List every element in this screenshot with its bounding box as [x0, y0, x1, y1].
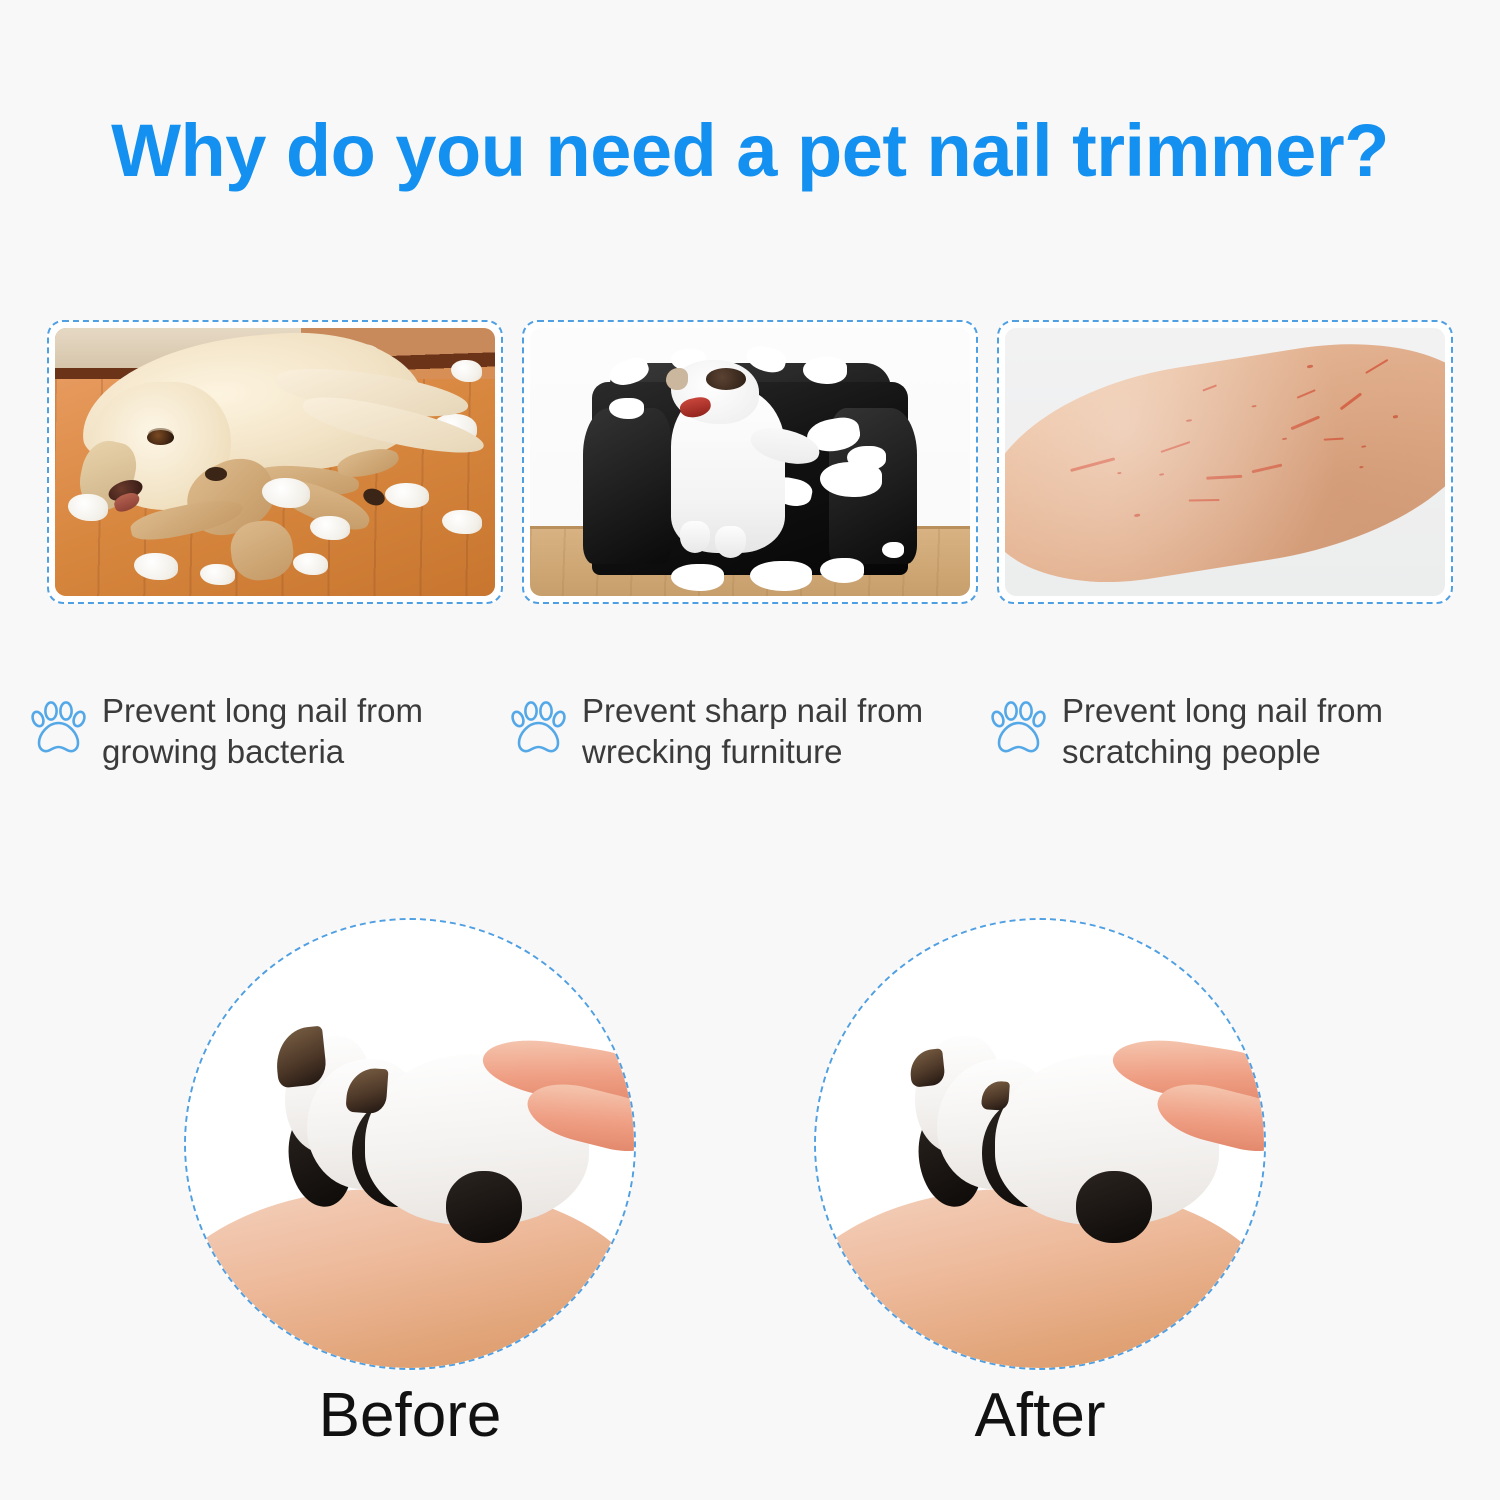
benefit-caption-people: Prevent long nail from scratching people: [990, 688, 1470, 772]
photo-frame: [1005, 328, 1445, 596]
after-item: After: [814, 918, 1266, 1370]
scratch-mark: [1296, 389, 1316, 399]
teddy-eye: [205, 467, 227, 480]
human-hand: [814, 1189, 1266, 1370]
scratch-dot: [1360, 445, 1366, 448]
paw-trimmed-claws-scene: [816, 920, 1264, 1368]
paw-icon: [990, 696, 1048, 758]
scratch-dot: [1392, 416, 1397, 419]
scratch-mark: [1188, 499, 1219, 502]
caption-line-1: Prevent sharp nail from: [582, 692, 923, 729]
benefit-photo-scratched-arm: [997, 320, 1453, 604]
paw-icon: [30, 696, 88, 758]
benefit-photo-labrador: [47, 320, 503, 604]
scratch-mark: [1205, 475, 1241, 480]
after-label: After: [814, 1380, 1266, 1451]
scratch-mark: [1070, 458, 1115, 473]
paw-icon: [510, 696, 568, 758]
benefit-caption-bacteria: Prevent long nail from growing bacteria: [30, 688, 510, 772]
stuffing-fluff: [262, 478, 310, 507]
benefit-image-row: [47, 320, 1453, 604]
stuffing-fluff: [310, 516, 350, 540]
stuffing-fluff: [134, 553, 178, 580]
scratch-dot: [1158, 473, 1163, 476]
caption-line-2: growing bacteria: [102, 733, 344, 770]
photo-frame: [55, 328, 495, 596]
scratch-mark: [1251, 464, 1281, 473]
caption-line-1: Prevent long nail from: [1062, 692, 1383, 729]
scratch-mark: [1160, 442, 1190, 454]
torn-stuffing: [671, 564, 724, 591]
scratch-dot: [1186, 419, 1192, 422]
armchair-scene: [530, 328, 970, 596]
dog-eye-patch: [706, 368, 746, 389]
scratch-dot: [1251, 405, 1256, 408]
dog-ear: [666, 368, 688, 389]
benefit-photo-armchair: [522, 320, 978, 604]
scratch-dot: [1134, 514, 1140, 517]
benefit-caption-text: Prevent sharp nail from wrecking furnitu…: [582, 688, 923, 772]
dog-paw: [715, 526, 746, 558]
torn-stuffing: [609, 398, 644, 419]
stuffing-fluff: [293, 553, 328, 574]
human-hand: [184, 1189, 636, 1370]
long-claw: [273, 1025, 328, 1088]
benefit-caption-furniture: Prevent sharp nail from wrecking furnitu…: [510, 688, 990, 772]
stuffing-fluff: [68, 494, 108, 521]
torn-stuffing: [820, 558, 864, 582]
hand-crease: [866, 1355, 936, 1370]
hand-crease: [236, 1355, 306, 1370]
dog-eye: [147, 430, 173, 445]
scratch-mark: [1291, 416, 1320, 430]
before-label: Before: [184, 1380, 636, 1451]
stuffing-fluff: [385, 483, 429, 507]
scratch-mark: [1365, 359, 1388, 374]
before-photo: [184, 918, 636, 1370]
torn-stuffing: [750, 561, 812, 590]
paw-long-claws-scene: [186, 920, 634, 1368]
labrador-scene: [55, 328, 495, 596]
before-item: Before: [184, 918, 636, 1370]
benefit-caption-row: Prevent long nail from growing bacteria …: [30, 688, 1470, 772]
scratch-dot: [1117, 472, 1122, 475]
scratch-dot: [1359, 466, 1364, 469]
page-title: Why do you need a pet nail trimmer?: [0, 108, 1500, 193]
torn-stuffing: [847, 446, 887, 470]
torn-stuffing: [882, 542, 904, 558]
scratch-mark: [1340, 393, 1362, 411]
photo-frame: [530, 328, 970, 596]
scratch-dot: [1306, 365, 1312, 368]
caption-line-1: Prevent long nail from: [102, 692, 423, 729]
benefit-caption-text: Prevent long nail from growing bacteria: [102, 688, 423, 772]
trimmed-claw: [908, 1048, 945, 1087]
paw-pad-dark: [446, 1171, 522, 1243]
after-photo: [814, 918, 1266, 1370]
stuffing-fluff: [200, 564, 235, 585]
caption-line-2: wrecking furniture: [582, 733, 842, 770]
scratch-mark: [1202, 385, 1217, 392]
paw-pad-dark: [1076, 1171, 1152, 1243]
forearm: [1005, 328, 1445, 596]
benefit-caption-text: Prevent long nail from scratching people: [1062, 688, 1383, 772]
armchair-arm: [583, 408, 671, 563]
scratch-dot: [1282, 437, 1287, 440]
stuffing-fluff: [451, 360, 482, 381]
scratched-arm-scene: [1005, 328, 1445, 596]
caption-line-2: scratching people: [1062, 733, 1321, 770]
before-after-row: Before After: [0, 918, 1500, 1378]
scratch-mark: [1323, 437, 1343, 440]
